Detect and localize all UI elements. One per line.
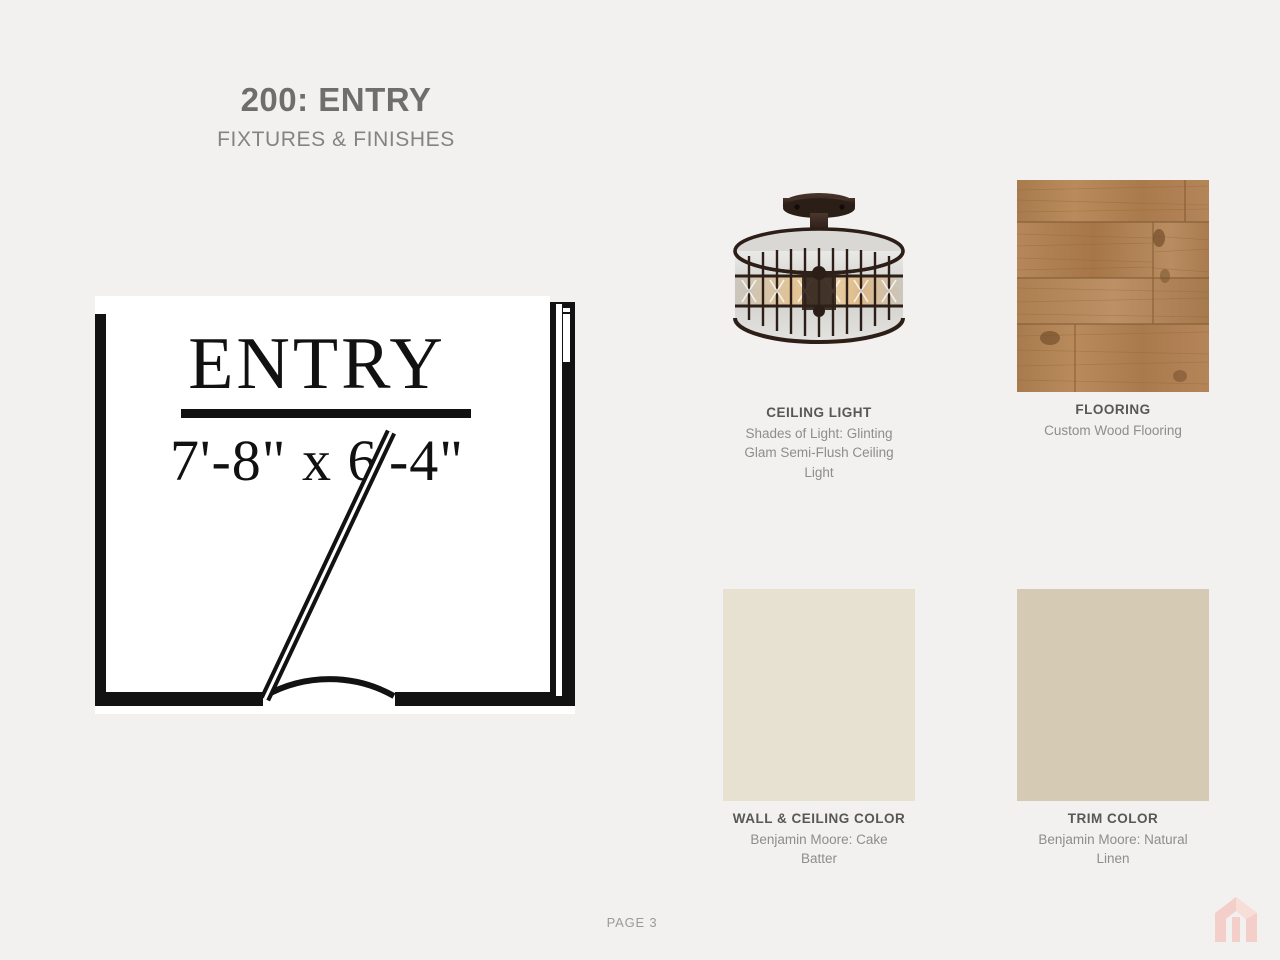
spec-row-top: CEILING LIGHT Shades of Light: Glinting … <box>672 180 1272 482</box>
wall-bottom-left <box>95 692 263 706</box>
ceiling-light-image <box>704 180 934 395</box>
spec-label-wall-color: WALL & CEILING COLOR <box>733 811 906 827</box>
ceiling-light-svg <box>704 180 934 395</box>
wall-left <box>95 314 106 702</box>
socket-top <box>812 266 826 280</box>
spec-label-trim-color: TRIM COLOR <box>1068 811 1159 827</box>
wall-bottom-right <box>395 692 575 706</box>
spec-row-bottom: WALL & CEILING COLOR Benjamin Moore: Cak… <box>672 589 1272 869</box>
canopy-screw-left <box>794 204 799 209</box>
specifications-grid: CEILING LIGHT Shades of Light: Glinting … <box>672 180 1272 868</box>
page-title: 200: ENTRY <box>0 82 672 119</box>
wood-flooring-swatch <box>1017 180 1209 392</box>
page-subtitle: FIXTURES & FINISHES <box>0 128 672 151</box>
page-number: PAGE 3 <box>0 915 1264 930</box>
wood-knot-1 <box>1153 229 1165 247</box>
wood-knot-2 <box>1160 269 1170 283</box>
wall-color-media <box>672 589 966 801</box>
spec-card-ceiling-light[interactable]: CEILING LIGHT Shades of Light: Glinting … <box>672 180 966 482</box>
spec-card-trim-color[interactable]: TRIM COLOR Benjamin Moore: Natural Linen <box>966 589 1260 869</box>
spec-description-trim-color: Benjamin Moore: Natural Linen <box>1026 830 1201 868</box>
label-underline <box>181 409 471 418</box>
house-logo <box>1210 892 1262 946</box>
floorplan-drawing: ENTRY 7'-8" x 6'-4" <box>95 296 575 714</box>
floorplan-dimensions: 7'-8" x 6'-4" <box>170 428 464 493</box>
ceiling-light-media <box>672 180 966 395</box>
window-opening-cap <box>563 308 570 312</box>
wood-flooring-svg <box>1017 180 1209 392</box>
house-logo-svg <box>1210 892 1262 946</box>
wood-knot-4 <box>1173 370 1187 382</box>
house-door-shape <box>1232 917 1240 942</box>
spec-description-wall-color: Benjamin Moore: Cake Batter <box>732 830 907 868</box>
spec-label-ceiling-light: CEILING LIGHT <box>766 405 872 421</box>
floorplan-room-label: ENTRY <box>188 323 446 405</box>
page-header: 200: ENTRY FIXTURES & FINISHES <box>0 82 672 151</box>
grid-row-spacer <box>672 482 1272 589</box>
wall-right-top-trim <box>550 296 575 302</box>
spec-label-flooring: FLOORING <box>1075 402 1150 418</box>
wood-knot-3 <box>1040 331 1060 345</box>
wall-right <box>550 296 575 706</box>
socket-bottom <box>813 305 825 317</box>
window-opening <box>563 314 570 362</box>
spec-card-wall-color[interactable]: WALL & CEILING COLOR Benjamin Moore: Cak… <box>672 589 966 869</box>
wall-paint-swatch <box>723 589 915 801</box>
trim-paint-swatch <box>1017 589 1209 801</box>
trim-color-media <box>966 589 1260 801</box>
spec-description-ceiling-light: Shades of Light: Glinting Glam Semi-Flus… <box>732 424 907 481</box>
wall-right-cavity <box>556 304 562 696</box>
spec-card-flooring[interactable]: FLOORING Custom Wood Flooring <box>966 180 1260 482</box>
flooring-media <box>966 180 1260 392</box>
spec-description-flooring: Custom Wood Flooring <box>1044 421 1182 440</box>
floorplan-svg: ENTRY 7'-8" x 6'-4" <box>95 296 575 714</box>
canopy-screw-right <box>839 204 844 209</box>
